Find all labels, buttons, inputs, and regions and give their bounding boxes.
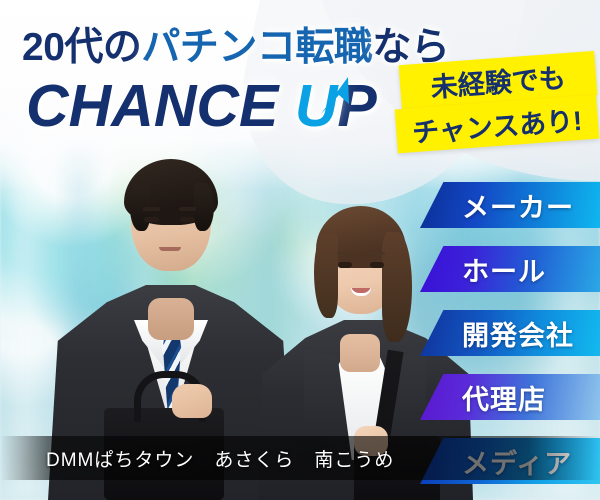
category-band-developer[interactable]: 開発会社 [420, 310, 600, 356]
caption-text: DMMぱちタウン あさくら 南こうめ [46, 445, 394, 472]
category-label-developer: 開発会社 [462, 314, 574, 353]
category-label-agency: 代理店 [462, 378, 546, 417]
caption-strip: DMMぱちタウン あさくら 南こうめ [0, 436, 600, 480]
category-label-maker: メーカー [462, 186, 574, 225]
category-band-agency[interactable]: 代理店 [420, 374, 600, 420]
category-band-maker[interactable]: メーカー [420, 182, 600, 228]
category-list: メーカー ホール 開発会社 代理店 メディア [0, 0, 600, 500]
category-label-hall: ホール [462, 250, 546, 289]
recruitment-banner[interactable]: 20代のパチンコ転職なら CHANCE UP 未経験でも チャンスあり! メーカ… [0, 0, 600, 500]
category-band-hall[interactable]: ホール [420, 246, 600, 292]
